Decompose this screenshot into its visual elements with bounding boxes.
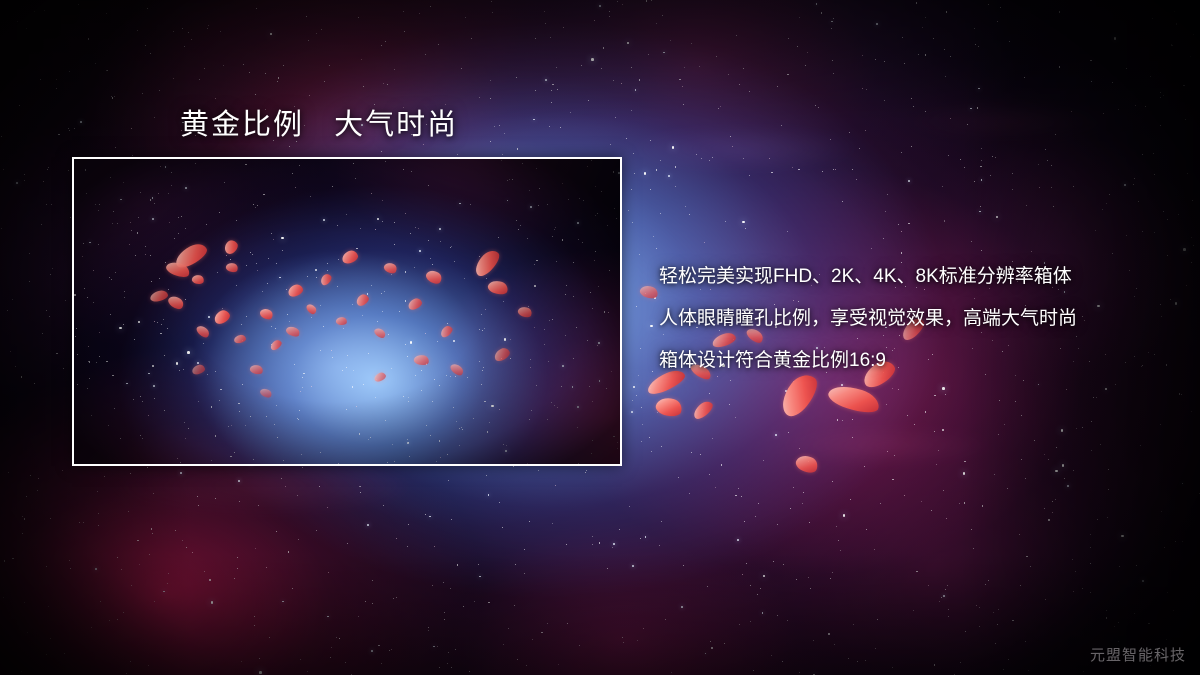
star <box>98 525 99 526</box>
star <box>106 70 107 71</box>
star <box>43 181 44 182</box>
star <box>901 252 902 253</box>
star <box>934 664 935 665</box>
star <box>69 560 70 561</box>
star <box>465 17 466 18</box>
star <box>499 502 500 503</box>
star <box>963 472 966 475</box>
star <box>594 20 595 21</box>
star <box>1186 285 1187 286</box>
star <box>609 11 610 12</box>
star <box>1185 119 1186 120</box>
star <box>947 585 948 586</box>
star <box>1153 153 1154 154</box>
star <box>743 68 744 69</box>
star <box>1055 499 1056 500</box>
star <box>46 310 47 311</box>
star <box>908 223 909 224</box>
star <box>944 221 945 222</box>
star <box>529 521 530 522</box>
star <box>29 281 30 282</box>
star <box>387 84 388 85</box>
star <box>556 67 557 68</box>
star <box>619 529 620 530</box>
star <box>3 169 4 170</box>
star <box>913 106 914 107</box>
star <box>633 386 636 389</box>
star <box>1191 411 1192 412</box>
star <box>514 605 515 606</box>
star <box>1073 186 1074 187</box>
star <box>1090 563 1091 564</box>
star <box>74 128 75 129</box>
star <box>367 524 369 526</box>
star <box>404 31 405 32</box>
star <box>1134 178 1135 179</box>
star <box>981 160 982 161</box>
star <box>913 610 914 611</box>
star <box>383 505 384 506</box>
star <box>139 564 140 565</box>
star <box>996 216 999 219</box>
star <box>308 40 309 41</box>
star <box>490 141 491 142</box>
star <box>750 621 751 622</box>
star <box>1090 60 1091 61</box>
star <box>1138 201 1139 202</box>
star <box>443 582 444 583</box>
star <box>586 470 587 471</box>
star <box>215 98 216 99</box>
star <box>739 624 740 625</box>
star <box>1061 429 1064 432</box>
star <box>211 601 214 604</box>
star <box>149 554 150 555</box>
star <box>381 45 382 46</box>
star <box>631 67 632 68</box>
star <box>259 658 260 659</box>
star <box>645 293 646 294</box>
star <box>1107 517 1108 518</box>
star <box>852 169 853 170</box>
star <box>46 566 47 567</box>
star <box>278 77 279 78</box>
star <box>16 182 18 184</box>
star <box>650 388 651 389</box>
star <box>1026 205 1027 206</box>
star <box>636 395 637 396</box>
star <box>1039 187 1040 188</box>
star <box>671 672 672 673</box>
star <box>875 59 876 60</box>
star <box>840 550 841 551</box>
star <box>936 464 937 465</box>
star <box>796 412 797 413</box>
star <box>1176 23 1177 24</box>
star <box>925 17 926 18</box>
star <box>656 23 657 24</box>
star <box>1135 105 1136 106</box>
star <box>982 505 983 506</box>
star <box>588 100 589 101</box>
star <box>277 81 278 82</box>
star <box>1090 547 1091 548</box>
star <box>22 516 23 517</box>
star <box>865 130 866 131</box>
star <box>526 665 527 666</box>
flower-petal <box>691 398 716 421</box>
star <box>62 470 63 471</box>
star <box>517 148 518 149</box>
star <box>777 524 778 525</box>
star <box>551 102 552 103</box>
star <box>204 571 205 572</box>
star <box>265 73 266 74</box>
star <box>44 10 45 11</box>
star <box>558 664 559 665</box>
star <box>130 473 131 474</box>
star <box>883 238 884 239</box>
star <box>830 578 831 579</box>
star <box>613 543 615 545</box>
star <box>922 27 923 28</box>
star <box>199 79 200 80</box>
star <box>234 578 235 579</box>
star <box>638 375 639 376</box>
star <box>914 424 915 425</box>
star <box>864 466 865 467</box>
star <box>21 376 22 377</box>
star <box>223 65 224 66</box>
star <box>988 4 989 5</box>
star <box>50 274 51 275</box>
watermark: 元盟智能科技 <box>1090 644 1186 665</box>
star <box>648 54 649 55</box>
star <box>437 646 438 647</box>
star <box>960 662 961 663</box>
star <box>258 505 259 506</box>
star <box>570 112 571 113</box>
star <box>1051 187 1052 188</box>
star <box>1114 37 1117 40</box>
star <box>545 79 547 81</box>
star <box>56 79 57 80</box>
star <box>1048 519 1049 520</box>
star <box>790 508 791 509</box>
star <box>383 83 384 84</box>
star <box>1028 670 1029 671</box>
star <box>787 620 788 621</box>
star <box>1106 610 1107 611</box>
star <box>653 236 654 237</box>
star <box>1152 18 1153 19</box>
star <box>142 93 143 94</box>
star <box>26 28 27 29</box>
star <box>640 348 641 349</box>
star <box>173 31 174 32</box>
star <box>159 90 160 91</box>
star <box>663 52 665 54</box>
star <box>709 393 710 394</box>
star <box>541 632 542 633</box>
star <box>925 111 926 112</box>
star <box>950 56 951 57</box>
star <box>1021 415 1022 416</box>
star <box>106 13 107 14</box>
star <box>566 544 567 545</box>
star <box>661 446 662 447</box>
star <box>56 353 57 354</box>
star <box>1183 248 1186 251</box>
star <box>637 640 638 641</box>
star <box>1167 219 1168 220</box>
star <box>198 505 199 506</box>
star <box>255 548 256 549</box>
star <box>256 8 257 9</box>
star <box>563 27 564 28</box>
star <box>50 518 51 519</box>
star <box>434 546 435 547</box>
star <box>182 28 183 29</box>
star <box>95 568 97 570</box>
star <box>544 11 545 12</box>
star <box>319 486 320 487</box>
star <box>64 653 65 654</box>
star <box>1044 508 1045 509</box>
star <box>302 467 303 468</box>
star <box>29 253 30 254</box>
star <box>613 80 614 81</box>
star <box>691 452 692 453</box>
star <box>1012 620 1013 621</box>
nebula-photo-panel <box>72 157 622 466</box>
star <box>807 52 808 53</box>
star <box>551 90 552 91</box>
star <box>1164 547 1165 548</box>
star <box>659 545 660 546</box>
star <box>327 507 328 508</box>
star <box>339 638 340 639</box>
star <box>104 476 105 477</box>
star <box>549 126 550 127</box>
star <box>979 211 981 213</box>
star <box>980 206 981 207</box>
star <box>58 134 59 135</box>
star <box>1160 97 1161 98</box>
star <box>808 577 809 578</box>
star <box>463 606 464 607</box>
star <box>1193 34 1194 35</box>
star <box>934 395 935 396</box>
star <box>755 516 756 517</box>
star <box>471 38 472 39</box>
body-line-2: 人体眼睛瞳孔比例，享受视觉效果，高端大气时尚 <box>659 298 1179 340</box>
star <box>339 638 340 639</box>
star <box>107 70 108 71</box>
star <box>425 514 426 515</box>
star <box>360 492 361 493</box>
star <box>939 601 940 602</box>
star <box>502 154 503 155</box>
star <box>830 139 831 140</box>
star <box>835 169 836 170</box>
star <box>328 572 329 573</box>
star <box>650 140 651 141</box>
star <box>887 194 888 195</box>
star <box>30 475 31 476</box>
star <box>391 649 392 650</box>
star <box>488 602 489 603</box>
star <box>627 42 630 45</box>
star <box>115 147 116 148</box>
star <box>753 670 754 671</box>
star <box>98 513 99 514</box>
star <box>128 511 129 512</box>
star <box>266 567 267 568</box>
star <box>254 616 255 617</box>
flower-petal <box>638 283 659 300</box>
star <box>985 584 986 585</box>
star <box>428 627 429 628</box>
star <box>651 0 652 1</box>
star <box>981 179 983 181</box>
star <box>622 637 623 638</box>
star <box>901 152 902 153</box>
star <box>1048 459 1049 460</box>
star <box>117 557 118 558</box>
star <box>821 12 822 13</box>
star <box>831 21 833 23</box>
star <box>592 544 593 545</box>
star <box>547 623 548 624</box>
star <box>1174 11 1175 12</box>
star <box>1067 485 1069 487</box>
star <box>237 568 238 569</box>
star <box>979 607 980 608</box>
star <box>615 117 616 118</box>
star <box>1083 671 1084 672</box>
star <box>450 588 451 589</box>
star <box>816 3 818 5</box>
star <box>631 411 633 413</box>
star <box>492 12 493 13</box>
star <box>1163 95 1164 96</box>
star <box>249 72 250 73</box>
star <box>167 583 168 584</box>
star <box>451 519 452 520</box>
star <box>758 503 759 504</box>
star <box>892 388 893 389</box>
star <box>259 671 262 674</box>
star <box>385 41 386 42</box>
star <box>297 495 298 496</box>
star <box>709 160 710 161</box>
star <box>685 206 686 207</box>
star <box>942 387 945 390</box>
star <box>324 81 325 82</box>
star <box>46 204 47 205</box>
star <box>612 547 613 548</box>
star <box>147 467 148 468</box>
star <box>877 619 878 620</box>
star <box>19 105 20 106</box>
star <box>665 619 666 620</box>
star <box>672 146 675 149</box>
star <box>1154 232 1155 233</box>
star <box>743 158 744 159</box>
star <box>911 146 912 147</box>
star <box>12 558 13 559</box>
star <box>639 79 640 80</box>
star <box>931 510 932 511</box>
star <box>959 503 960 504</box>
star <box>981 250 982 251</box>
star <box>684 67 685 68</box>
star <box>683 565 684 566</box>
star <box>781 125 782 126</box>
star <box>1012 173 1013 174</box>
star <box>237 557 238 558</box>
star <box>749 91 750 92</box>
star <box>34 383 35 384</box>
star <box>358 17 359 18</box>
star <box>805 65 806 66</box>
star <box>7 310 8 311</box>
star <box>425 54 426 55</box>
flower-petal <box>654 395 684 419</box>
star <box>646 0 647 1</box>
star <box>735 495 736 496</box>
star <box>799 17 800 18</box>
star <box>407 546 408 547</box>
star <box>188 32 189 33</box>
star <box>925 411 926 412</box>
star <box>269 637 270 638</box>
star <box>27 632 28 633</box>
star <box>1030 566 1031 567</box>
star <box>285 486 286 487</box>
star <box>894 455 895 456</box>
star <box>1148 623 1149 624</box>
star <box>438 44 439 45</box>
star <box>1136 565 1137 566</box>
star <box>689 493 690 494</box>
panel-inner <box>74 159 620 464</box>
star <box>504 133 505 134</box>
star <box>24 602 25 603</box>
star <box>856 179 857 180</box>
star <box>330 657 331 658</box>
star <box>787 74 788 75</box>
star <box>750 585 751 586</box>
star <box>173 78 174 79</box>
star <box>215 498 216 499</box>
star <box>634 173 635 174</box>
star <box>490 80 491 81</box>
star <box>998 434 999 435</box>
star <box>292 588 293 589</box>
star <box>617 1 618 2</box>
star <box>1142 231 1143 232</box>
star <box>321 29 322 30</box>
star <box>535 38 536 39</box>
star <box>678 477 679 478</box>
star <box>704 242 705 243</box>
star <box>880 503 881 504</box>
star <box>679 79 680 80</box>
star <box>184 46 185 47</box>
star <box>938 450 939 451</box>
